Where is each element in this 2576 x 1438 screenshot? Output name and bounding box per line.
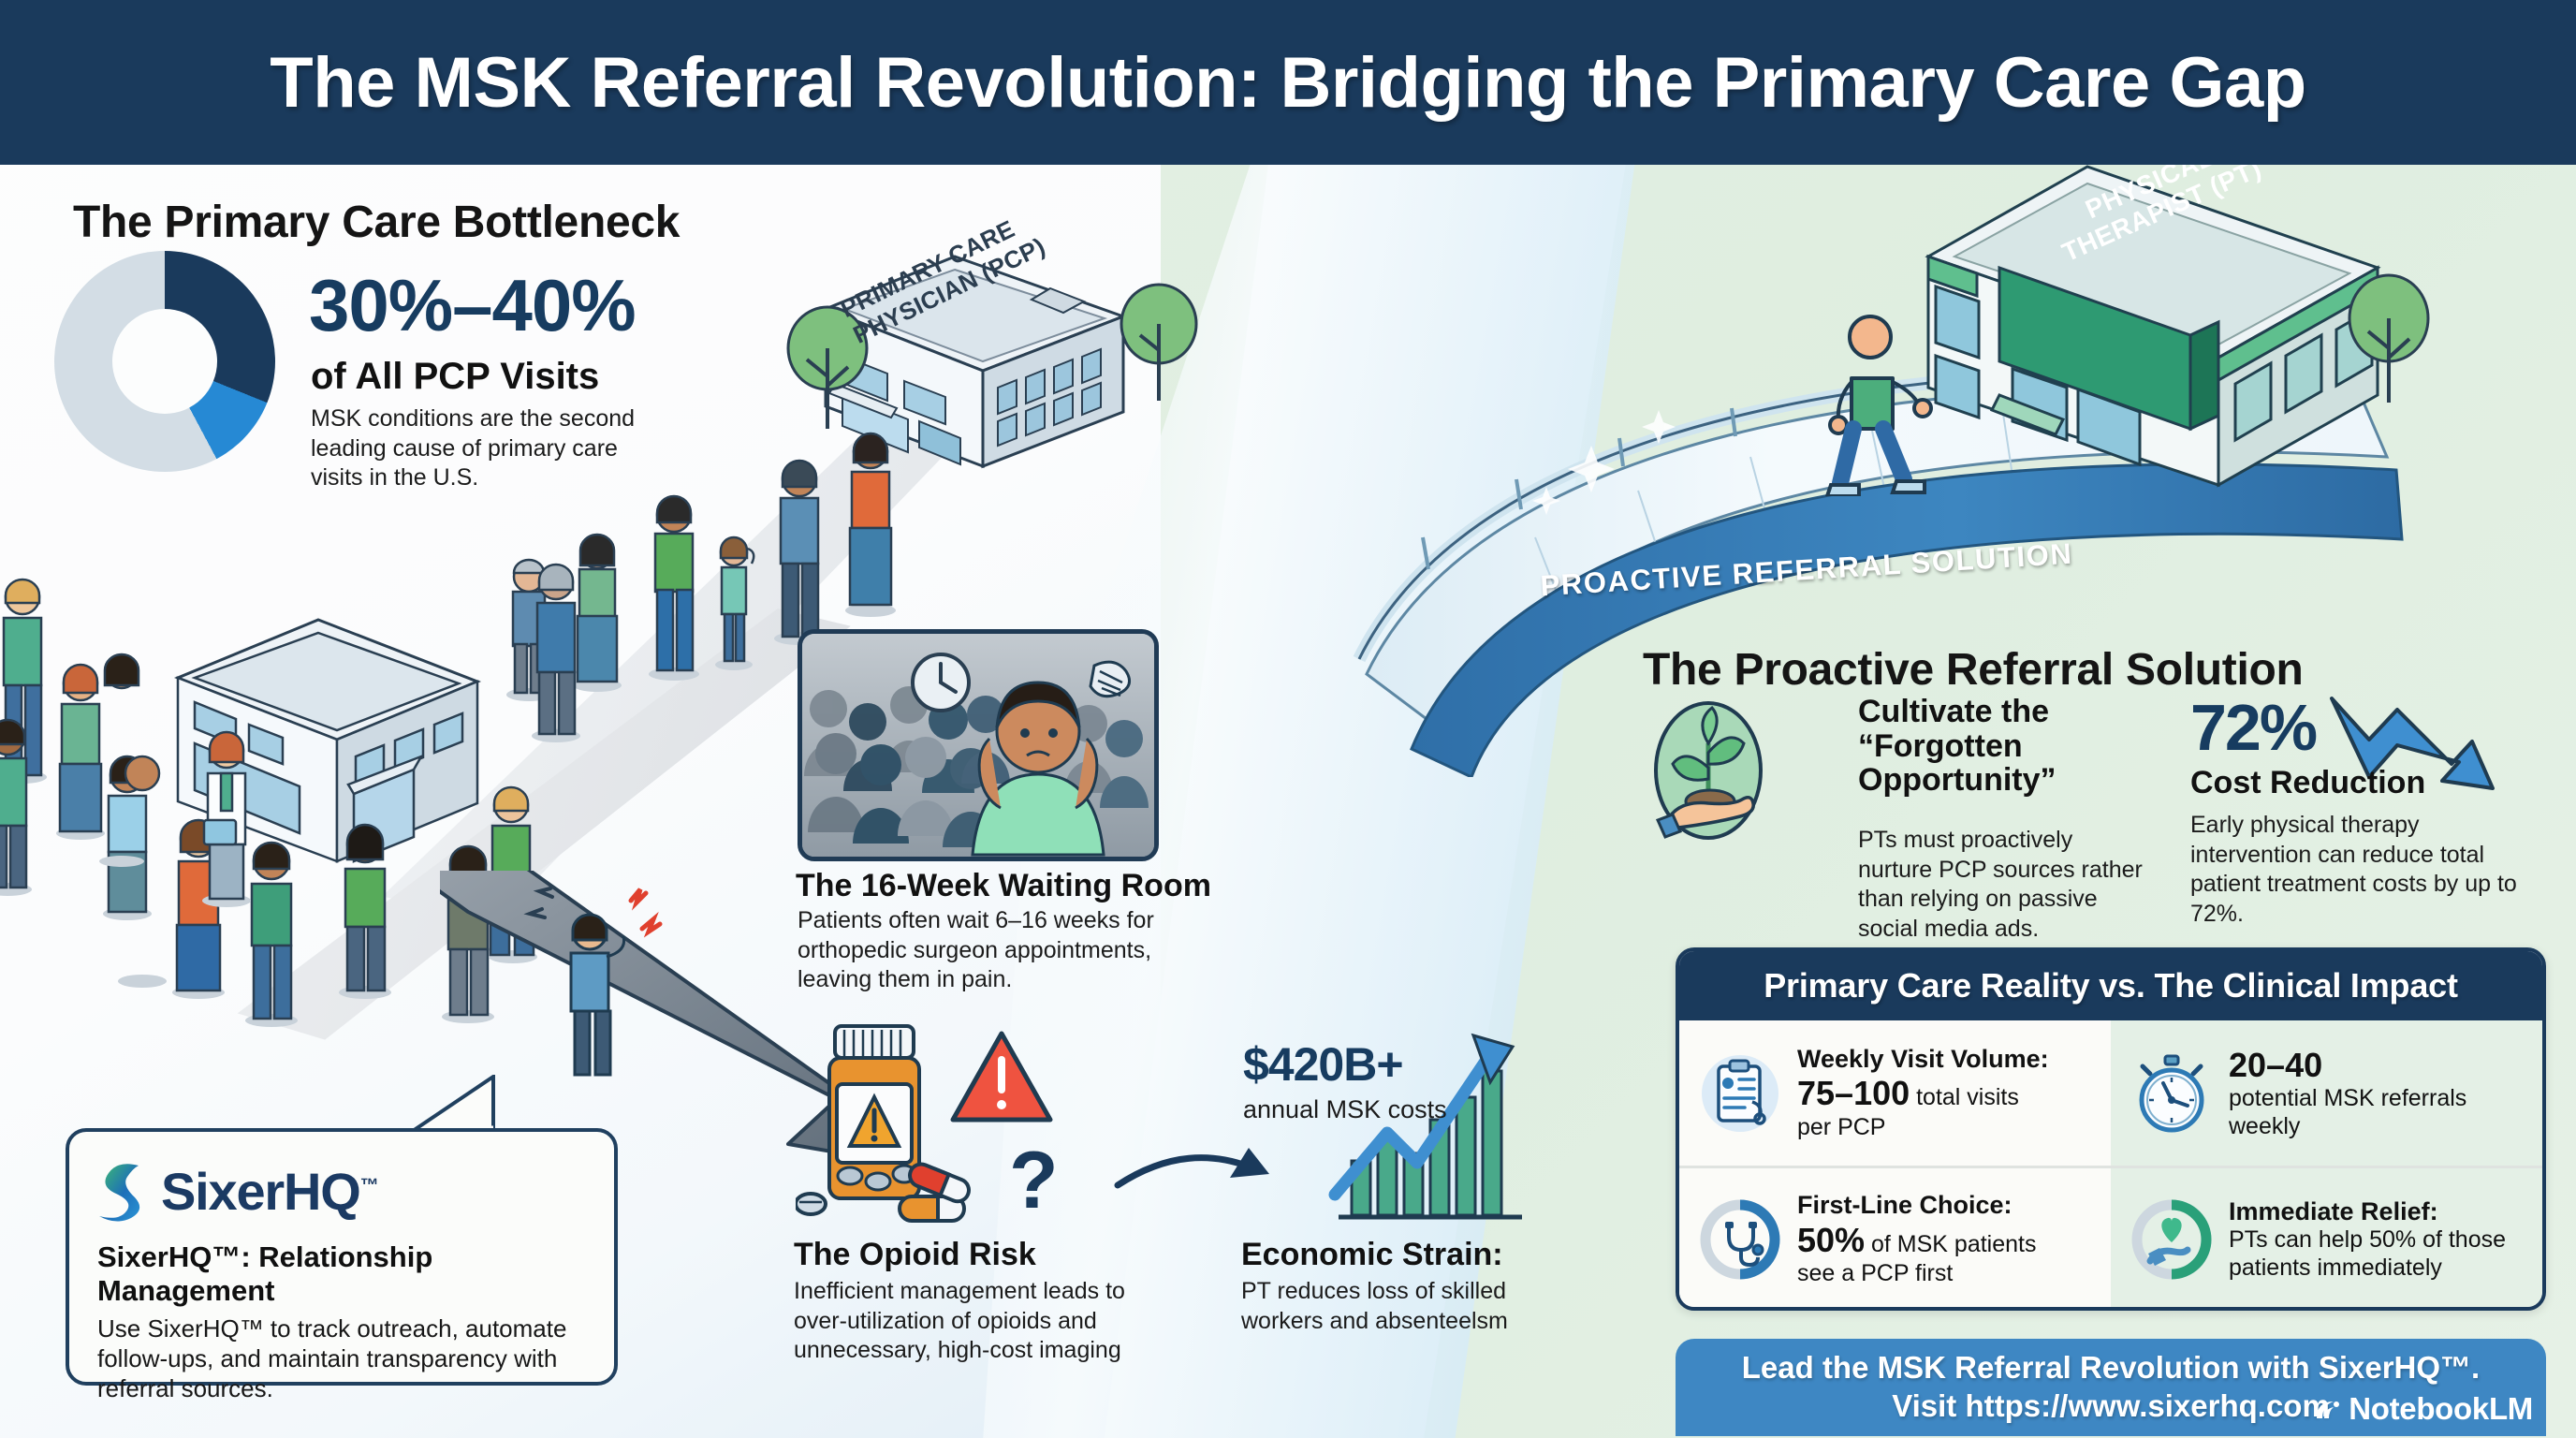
economic-amount-block: $420B+ annual MSK costs (1243, 1037, 1447, 1124)
comparison-cell-first-line-choice: First-Line Choice: 50% of MSK patients s… (1679, 1166, 2111, 1311)
comparison-column-impact: 20–40 potential MSK referrals weekly (2111, 1020, 2542, 1311)
comparison-cell-text: First-Line Choice: 50% of MSK patients s… (1797, 1191, 2037, 1288)
cell-value-suffix: of MSK patients (1871, 1231, 2036, 1257)
sixerhq-wordmark-text: SixerHQ (161, 1162, 360, 1221)
comparison-cell-text: 20–40 potential MSK referrals weekly (2229, 1046, 2527, 1140)
cell-value: 50% (1797, 1221, 1865, 1259)
cell-value: 20–40 (2229, 1046, 2322, 1084)
sixerhq-wordmark-tm: ™ (360, 1175, 378, 1196)
donut-ring (54, 251, 275, 472)
clipboard-stethoscope-icon (1700, 1053, 1780, 1134)
waiting-room-graphic (802, 634, 1158, 858)
sixerhq-logo-mark-icon (97, 1160, 150, 1222)
callout-tail (407, 1075, 496, 1133)
comparison-cell-text: Immediate Relief: PTs can help 50% of th… (2229, 1197, 2506, 1283)
section-title-bottleneck: The Primary Care Bottleneck (73, 197, 680, 248)
stopwatch-icon (2131, 1053, 2212, 1134)
poster-header: The MSK Referral Revolution: Bridging th… (0, 0, 2576, 165)
stat-pcp-visit-range: 30%–40% (309, 270, 636, 341)
stat-label-pcp-visits: of All PCP Visits (311, 358, 599, 397)
comparison-cell-immediate-relief: Immediate Relief: PTs can help 50% of th… (2111, 1166, 2542, 1311)
comparison-cell-potential-referrals: 20–40 potential MSK referrals weekly (2111, 1020, 2542, 1166)
cta-line-1: Lead the MSK Referral Revolution with Si… (1742, 1349, 2480, 1387)
comparison-panel-body: Weekly Visit Volume: 75–100 total visits… (1679, 1020, 2542, 1311)
section-title-proactive-solution: The Proactive Referral Solution (1643, 644, 2304, 696)
stat-value: 30%–40% (309, 270, 636, 341)
economic-amount-note: annual MSK costs (1243, 1095, 1447, 1124)
pill-bottle-graphic: ? (796, 1020, 1105, 1245)
cta-banner[interactable]: Lead the MSK Referral Revolution with Si… (1676, 1339, 2546, 1436)
notebooklm-icon (2313, 1398, 2341, 1422)
economic-strain-title: Economic Strain: (1241, 1238, 1503, 1272)
cell-extra: see a PCP first (1797, 1260, 1953, 1286)
sixerhq-body: Use SixerHQ™ to track outreach, automate… (97, 1313, 586, 1404)
economic-strain-body: PT reduces loss of skilled workers and a… (1241, 1277, 1550, 1336)
notebooklm-label: NotebookLM (2349, 1390, 2533, 1429)
tree-icon-right (1114, 283, 1217, 414)
cell-label: First-Line Choice: (1797, 1191, 2037, 1221)
waiting-room-illustration (798, 629, 1159, 861)
notebooklm-watermark: NotebookLM (2313, 1390, 2533, 1429)
cell-value-suffix: total visits (1916, 1084, 2019, 1110)
cultivate-body: PTs must proactively nurture PCP sources… (1858, 826, 2148, 944)
opioid-risk-title: The Opioid Risk (794, 1238, 1036, 1272)
cell-extra: potential MSK referrals weekly (2229, 1085, 2466, 1139)
comparison-cell-text: Weekly Visit Volume: 75–100 total visits… (1797, 1045, 2049, 1142)
pcp-visit-share-donut-chart (54, 251, 275, 472)
cost-reduction-body: Early physical therapy intervention can … (2190, 811, 2518, 929)
economic-amount: $420B+ (1243, 1037, 1447, 1092)
seedling-in-hand-icon (1652, 700, 1764, 841)
cell-label: Weekly Visit Volume: (1797, 1045, 2049, 1075)
cost-reduction-heading: Cost Reduction (2190, 766, 2425, 800)
cell-extra: per PCP (1797, 1114, 1885, 1140)
stethoscope-ring-icon (1700, 1199, 1780, 1280)
sixerhq-callout-card[interactable]: SixerHQ™ SixerHQ™: Relationship Manageme… (66, 1128, 618, 1386)
poster-title: The MSK Referral Revolution: Bridging th… (270, 42, 2305, 124)
cell-value: 75–100 (1797, 1074, 1910, 1112)
comparison-panel-title: Primary Care Reality vs. The Clinical Im… (1679, 951, 2542, 1020)
sixerhq-logo: SixerHQ™ (97, 1156, 586, 1225)
comparison-cell-weekly-visit-volume: Weekly Visit Volume: 75–100 total visits… (1679, 1020, 2111, 1166)
cost-reduction-number: 72% (2190, 695, 2316, 760)
cost-reduction-number-block: 72% (2190, 695, 2316, 760)
opioid-risk-illustration: ? (796, 1020, 1095, 1236)
sixerhq-heading: SixerHQ™: Relationship Management (97, 1240, 586, 1308)
tree-icon-pt (2340, 271, 2452, 421)
svg-text:?: ? (1009, 1136, 1059, 1225)
cell-extra: patients immediately (2229, 1255, 2442, 1281)
cell-label: Immediate Relief: (2229, 1197, 2506, 1227)
sixerhq-wordmark: SixerHQ™ (161, 1161, 377, 1222)
infographic-canvas: The MSK Referral Revolution: Bridging th… (0, 0, 2576, 1438)
cell-value-suffix: PTs can help 50% of those (2229, 1226, 2506, 1253)
heart-in-hand-icon (2131, 1199, 2212, 1280)
opioid-risk-body: Inefficient management leads to over-uti… (794, 1277, 1178, 1366)
cta-line-2[interactable]: Visit https://www.sixerhq.com (1892, 1387, 2330, 1426)
comparison-column-reality: Weekly Visit Volume: 75–100 total visits… (1679, 1020, 2111, 1311)
cultivate-heading: Cultivate the “Forgotten Opportunity” (1858, 695, 2120, 798)
comparison-panel: Primary Care Reality vs. The Clinical Im… (1676, 947, 2546, 1311)
